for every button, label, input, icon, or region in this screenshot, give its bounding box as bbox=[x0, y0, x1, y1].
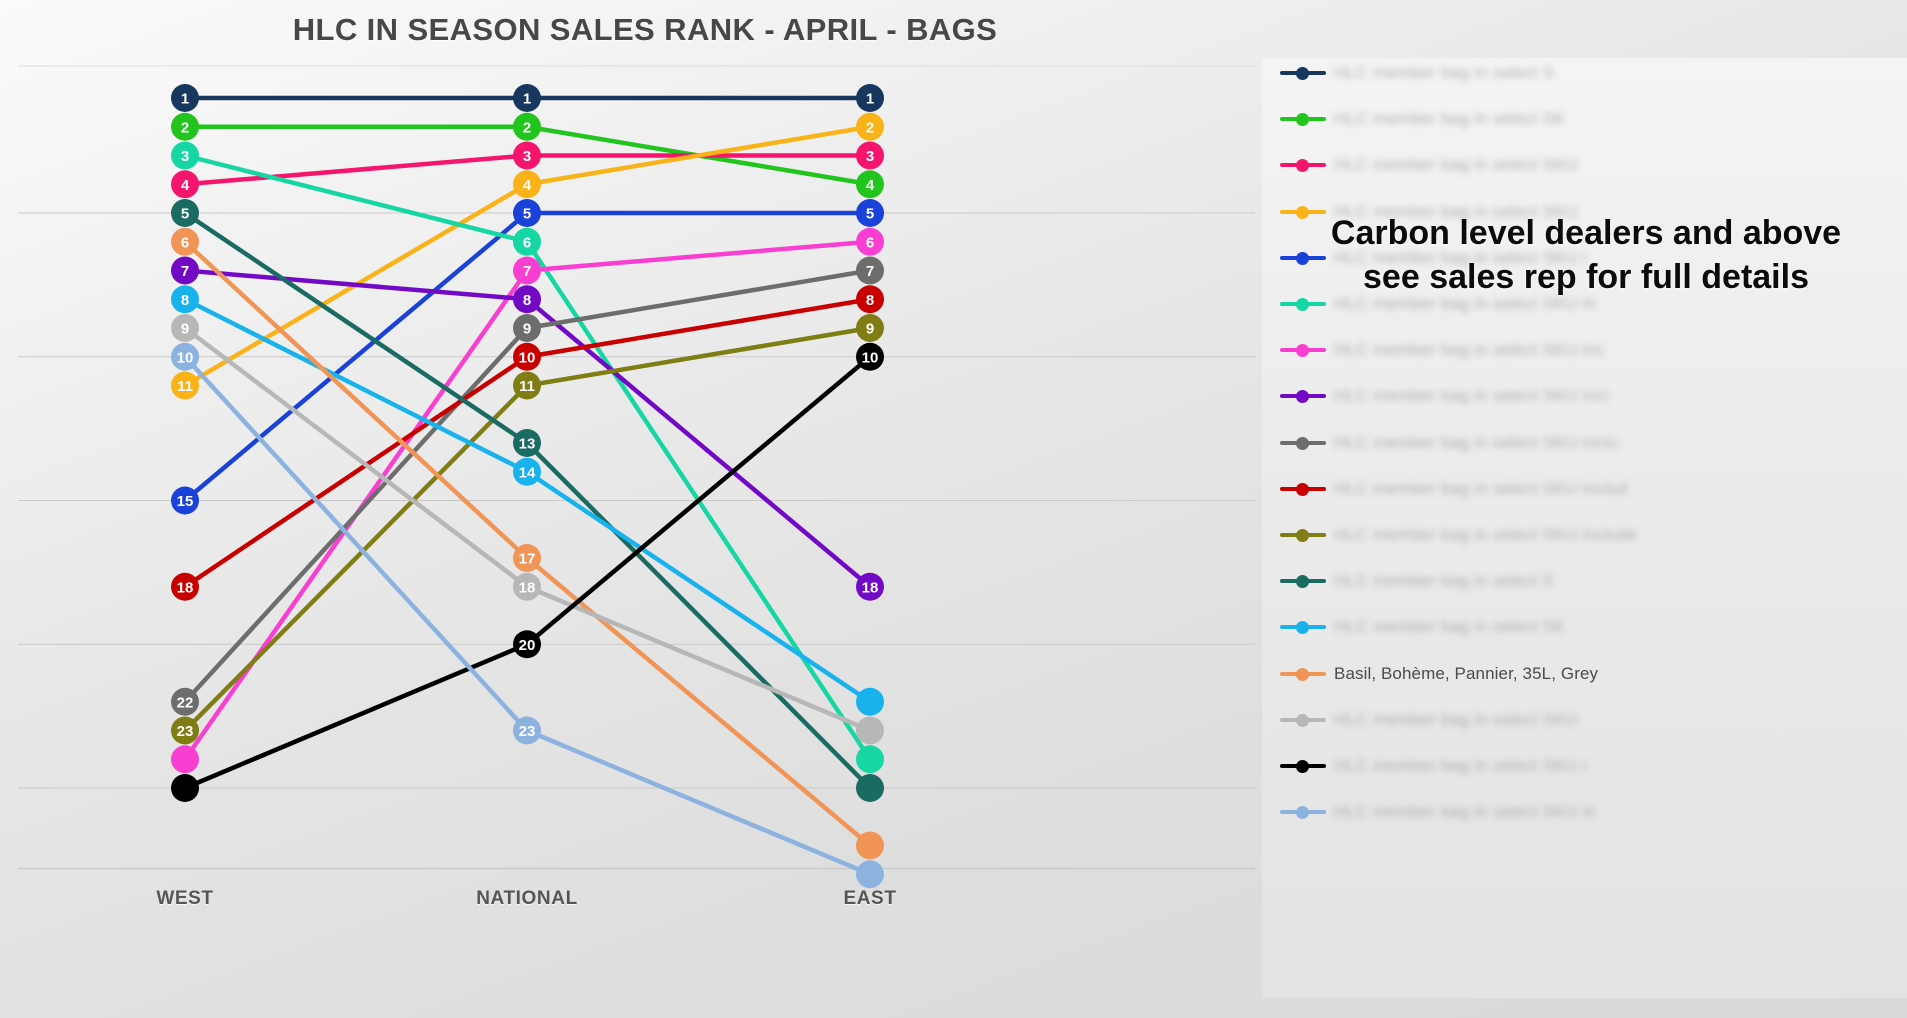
data-point-marker[interactable]: 5 bbox=[513, 199, 541, 227]
marker-rank-label: 22 bbox=[177, 694, 194, 711]
data-point-marker[interactable]: 8 bbox=[856, 285, 884, 313]
marker-circle bbox=[856, 860, 884, 888]
legend-item[interactable]: HLC member bag in select S bbox=[1280, 568, 1554, 594]
legend-item[interactable]: HLC member bag in select SKU incl bbox=[1280, 383, 1608, 409]
data-point-marker[interactable]: 7 bbox=[171, 257, 199, 285]
legend-color-swatch bbox=[1280, 574, 1326, 588]
marker-rank-label: 1 bbox=[181, 91, 189, 108]
data-point-marker[interactable]: 9 bbox=[513, 314, 541, 342]
marker-rank-label: 7 bbox=[523, 263, 531, 280]
data-point-marker[interactable]: 4 bbox=[513, 170, 541, 198]
legend-item[interactable]: HLC member bag in select SKU includ bbox=[1280, 476, 1628, 502]
legend-item[interactable]: Basil, Bohème, Pannier, 35L, Grey bbox=[1280, 661, 1598, 687]
data-point-marker[interactable]: 6 bbox=[856, 228, 884, 256]
data-point-marker[interactable]: 11 bbox=[171, 372, 199, 400]
legend-color-swatch bbox=[1280, 158, 1326, 172]
slope-chart-svg: 1112244331142155536767818229718108231195… bbox=[0, 58, 1255, 963]
marker-rank-label: 7 bbox=[866, 263, 874, 280]
data-point-marker[interactable]: 2 bbox=[171, 113, 199, 141]
data-point-marker[interactable]: 15 bbox=[171, 487, 199, 515]
plot-area: 1112244331142155536767818229718108231195… bbox=[0, 58, 1255, 963]
legend-color-swatch bbox=[1280, 528, 1326, 542]
data-point-marker[interactable]: 3 bbox=[171, 142, 199, 170]
marker-rank-label: 11 bbox=[177, 378, 193, 395]
data-point-marker[interactable]: 13 bbox=[513, 429, 541, 457]
marker-rank-label: 13 bbox=[519, 436, 536, 453]
marker-rank-label: 3 bbox=[523, 148, 531, 165]
data-point-marker[interactable]: 3 bbox=[856, 142, 884, 170]
marker-rank-label: 2 bbox=[523, 119, 531, 136]
marker-rank-label: 20 bbox=[519, 637, 536, 654]
legend: HLC member bag in select SHLC member bag… bbox=[1262, 58, 1907, 998]
data-point-marker[interactable] bbox=[856, 832, 884, 860]
legend-item-label: HLC member bag in select SKU include bbox=[1334, 525, 1637, 545]
marker-rank-label: 2 bbox=[866, 119, 874, 136]
marker-rank-label: 5 bbox=[181, 206, 189, 223]
marker-rank-label: 4 bbox=[181, 177, 190, 194]
axis-label-national: NATIONAL bbox=[476, 888, 578, 910]
legend-item-label: HLC member bag in select SKU inc bbox=[1334, 340, 1605, 360]
legend-item[interactable]: HLC member bag in select SKU i bbox=[1280, 753, 1586, 779]
marker-rank-label: 6 bbox=[866, 234, 874, 251]
legend-item[interactable]: HLC member bag in select SKU i bbox=[1280, 245, 1586, 271]
legend-item[interactable]: HLC member bag in select SKU bbox=[1280, 152, 1578, 178]
legend-item[interactable]: HLC member bag in select SKU bbox=[1280, 199, 1578, 225]
axis-label-east: EAST bbox=[843, 888, 896, 910]
data-point-marker[interactable]: 5 bbox=[856, 199, 884, 227]
marker-rank-label: 8 bbox=[866, 292, 874, 309]
data-point-marker[interactable]: 2 bbox=[513, 113, 541, 141]
data-point-marker[interactable]: 9 bbox=[856, 314, 884, 342]
legend-item[interactable]: HLC member bag in select SKU inclu bbox=[1280, 430, 1618, 456]
data-point-marker[interactable] bbox=[171, 745, 199, 773]
legend-color-swatch bbox=[1280, 759, 1326, 773]
legend-item-label: HLC member bag in select SKU incl bbox=[1334, 386, 1608, 406]
data-point-marker[interactable]: 22 bbox=[171, 688, 199, 716]
marker-rank-label: 8 bbox=[181, 292, 189, 309]
legend-color-swatch bbox=[1280, 389, 1326, 403]
marker-circle bbox=[856, 717, 884, 745]
legend-item-label: HLC member bag in select SKU bbox=[1334, 202, 1578, 222]
legend-item[interactable]: HLC member bag in select S bbox=[1280, 60, 1554, 86]
axis-label-west: WEST bbox=[156, 888, 213, 910]
legend-item[interactable]: HLC member bag in select SKU in bbox=[1280, 799, 1596, 825]
marker-rank-label: 1 bbox=[866, 91, 874, 108]
legend-color-swatch bbox=[1280, 436, 1326, 450]
marker-rank-label: 8 bbox=[523, 292, 531, 309]
data-point-marker[interactable]: 18 bbox=[856, 573, 884, 601]
marker-rank-label: 10 bbox=[862, 349, 879, 366]
legend-item-label: HLC member bag in select SKU i bbox=[1334, 248, 1586, 268]
data-point-marker[interactable] bbox=[856, 717, 884, 745]
data-point-marker[interactable]: 1 bbox=[513, 84, 541, 112]
data-point-marker[interactable]: 4 bbox=[856, 170, 884, 198]
marker-rank-label: 6 bbox=[523, 234, 531, 251]
marker-rank-label: 4 bbox=[866, 177, 875, 194]
marker-rank-label: 2 bbox=[181, 119, 189, 136]
data-point-marker[interactable] bbox=[856, 688, 884, 716]
legend-item-label: HLC member bag in select SK bbox=[1334, 109, 1565, 129]
marker-rank-label: 3 bbox=[181, 148, 189, 165]
legend-color-swatch bbox=[1280, 343, 1326, 357]
data-point-marker[interactable]: 23 bbox=[171, 717, 199, 745]
marker-circle bbox=[856, 832, 884, 860]
legend-item[interactable]: HLC member bag in select SKU bbox=[1280, 707, 1578, 733]
marker-rank-label: 3 bbox=[866, 148, 874, 165]
data-point-marker[interactable]: 6 bbox=[171, 228, 199, 256]
marker-rank-label: 10 bbox=[519, 349, 536, 366]
data-point-marker[interactable]: 23 bbox=[513, 717, 541, 745]
legend-color-swatch bbox=[1280, 205, 1326, 219]
data-point-marker[interactable]: 10 bbox=[513, 343, 541, 371]
marker-rank-label: 6 bbox=[181, 234, 189, 251]
marker-rank-label: 9 bbox=[181, 321, 189, 338]
marker-rank-label: 18 bbox=[519, 579, 536, 596]
page-title: HLC IN SEASON SALES RANK - APRIL - BAGS bbox=[0, 12, 1290, 48]
marker-rank-label: 5 bbox=[866, 206, 874, 223]
marker-rank-label: 17 bbox=[519, 551, 536, 568]
legend-color-swatch bbox=[1280, 482, 1326, 496]
marker-rank-label: 9 bbox=[523, 321, 531, 338]
marker-rank-label: 4 bbox=[523, 177, 532, 194]
data-point-marker[interactable]: 1 bbox=[171, 84, 199, 112]
marker-rank-label: 18 bbox=[177, 579, 194, 596]
marker-rank-label: 23 bbox=[177, 723, 194, 740]
data-point-marker[interactable]: 4 bbox=[171, 170, 199, 198]
legend-item[interactable]: HLC member bag in select SK bbox=[1280, 614, 1565, 640]
data-point-marker[interactable]: 7 bbox=[856, 257, 884, 285]
legend-item[interactable]: HLC member bag in select SK bbox=[1280, 106, 1565, 132]
data-point-marker[interactable]: 18 bbox=[513, 573, 541, 601]
marker-rank-label: 14 bbox=[519, 464, 536, 481]
data-point-marker[interactable]: 14 bbox=[513, 458, 541, 486]
legend-color-swatch bbox=[1280, 713, 1326, 727]
data-point-marker[interactable]: 8 bbox=[171, 285, 199, 313]
marker-rank-label: 18 bbox=[862, 579, 879, 596]
data-point-marker[interactable]: 11 bbox=[513, 372, 541, 400]
legend-color-swatch bbox=[1280, 667, 1326, 681]
legend-item-label: HLC member bag in select SKU bbox=[1334, 155, 1578, 175]
legend-item-label: HLC member bag in select SKU bbox=[1334, 710, 1578, 730]
chart-page: HLC IN SEASON SALES RANK - APRIL - BAGS … bbox=[0, 0, 1907, 1018]
legend-item-label: Basil, Bohème, Pannier, 35L, Grey bbox=[1334, 664, 1598, 684]
marker-rank-label: 10 bbox=[177, 349, 194, 366]
data-point-marker[interactable]: 9 bbox=[171, 314, 199, 342]
marker-rank-label: 5 bbox=[523, 206, 531, 223]
marker-circle bbox=[171, 745, 199, 773]
data-point-marker[interactable] bbox=[856, 860, 884, 888]
marker-circle bbox=[171, 774, 199, 802]
marker-rank-label: 9 bbox=[866, 321, 874, 338]
data-point-marker[interactable]: 10 bbox=[171, 343, 199, 371]
marker-rank-label: 1 bbox=[523, 91, 531, 108]
legend-color-swatch bbox=[1280, 805, 1326, 819]
data-point-marker[interactable]: 8 bbox=[513, 285, 541, 313]
data-point-marker[interactable]: 6 bbox=[513, 228, 541, 256]
marker-circle bbox=[856, 688, 884, 716]
legend-item-label: HLC member bag in select SK bbox=[1334, 617, 1565, 637]
data-point-marker[interactable]: 2 bbox=[856, 113, 884, 141]
data-point-marker[interactable] bbox=[171, 774, 199, 802]
legend-color-swatch bbox=[1280, 112, 1326, 126]
legend-item-label: HLC member bag in select SKU inclu bbox=[1334, 433, 1618, 453]
data-point-marker[interactable]: 10 bbox=[856, 343, 884, 371]
marker-circle bbox=[856, 774, 884, 802]
legend-item-label: HLC member bag in select SKU i bbox=[1334, 756, 1586, 776]
marker-rank-label: 23 bbox=[519, 723, 536, 740]
legend-item-label: HLC member bag in select S bbox=[1334, 571, 1554, 591]
marker-rank-label: 7 bbox=[181, 263, 189, 280]
data-point-marker[interactable] bbox=[856, 774, 884, 802]
legend-item[interactable]: HLC member bag in select SKU in bbox=[1280, 291, 1596, 317]
marker-rank-label: 15 bbox=[177, 493, 194, 510]
data-point-marker[interactable]: 7 bbox=[513, 257, 541, 285]
data-point-marker[interactable]: 17 bbox=[513, 544, 541, 572]
legend-color-swatch bbox=[1280, 297, 1326, 311]
legend-item-label: HLC member bag in select SKU in bbox=[1334, 294, 1596, 314]
legend-item-label: HLC member bag in select SKU includ bbox=[1334, 479, 1628, 499]
legend-item[interactable]: HLC member bag in select SKU inc bbox=[1280, 337, 1605, 363]
data-point-marker[interactable]: 1 bbox=[856, 84, 884, 112]
legend-color-swatch bbox=[1280, 620, 1326, 634]
data-point-marker[interactable]: 5 bbox=[171, 199, 199, 227]
marker-circle bbox=[856, 745, 884, 773]
legend-item-label: HLC member bag in select S bbox=[1334, 63, 1554, 83]
data-point-marker[interactable]: 20 bbox=[513, 630, 541, 658]
data-point-marker[interactable]: 18 bbox=[171, 573, 199, 601]
marker-rank-label: 11 bbox=[519, 378, 535, 395]
legend-item[interactable]: HLC member bag in select SKU include bbox=[1280, 522, 1637, 548]
legend-item-label: HLC member bag in select SKU in bbox=[1334, 802, 1596, 822]
data-point-marker[interactable] bbox=[856, 745, 884, 773]
legend-color-swatch bbox=[1280, 66, 1326, 80]
legend-color-swatch bbox=[1280, 251, 1326, 265]
data-point-marker[interactable]: 3 bbox=[513, 142, 541, 170]
